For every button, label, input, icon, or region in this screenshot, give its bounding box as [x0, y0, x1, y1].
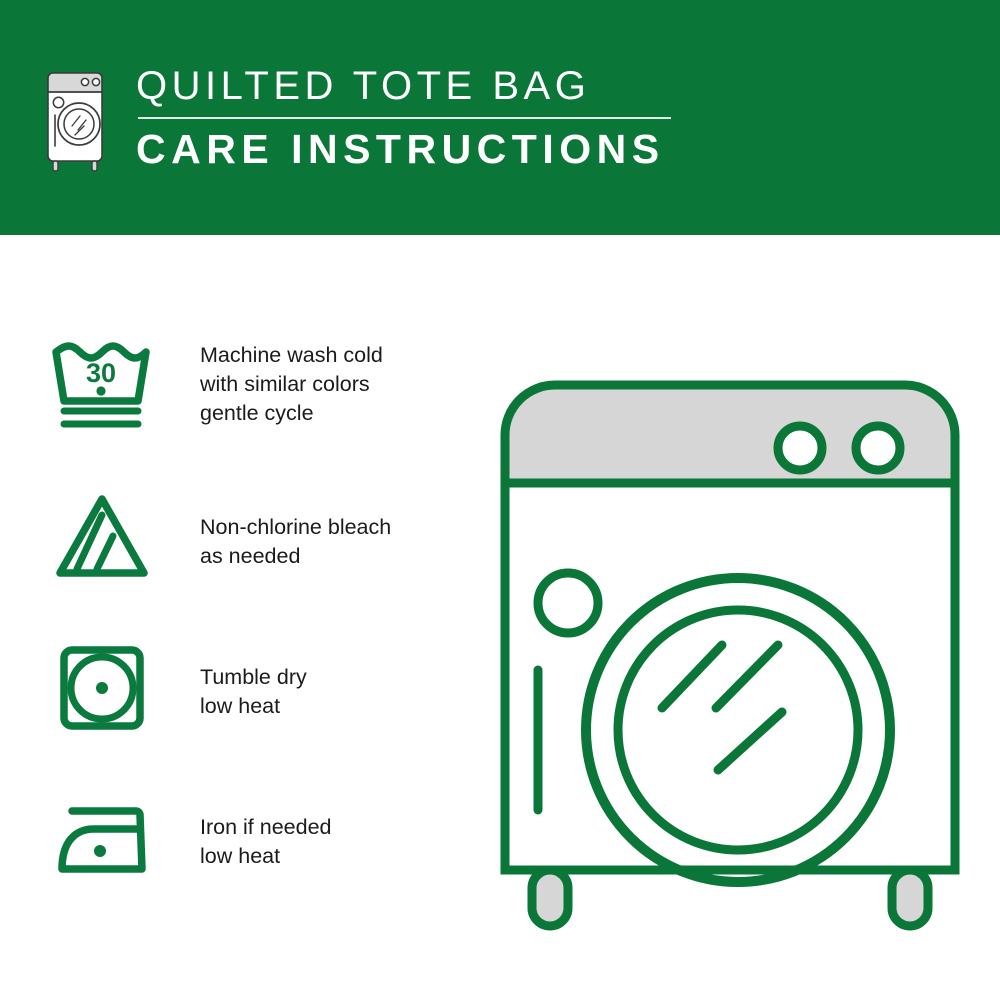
care-item-text: Non-chlorine bleach as needed — [158, 485, 391, 571]
care-item-text: Tumble dry low heat — [158, 635, 307, 721]
list-item: Non-chlorine bleach as needed — [50, 485, 470, 635]
title-divider — [138, 117, 671, 119]
care-item-text: Iron if needed low heat — [158, 785, 332, 871]
leg-right — [892, 870, 928, 926]
care-symbol-slot — [50, 635, 158, 735]
care-item-text: Machine wash cold with similar colors ge… — [158, 335, 383, 428]
page-subtitle: CARE INSTRUCTIONS — [136, 125, 671, 173]
list-item: Tumble dry low heat — [50, 635, 470, 785]
page-title: QUILTED TOTE BAG — [136, 62, 671, 110]
care-item-line: Iron if needed — [200, 813, 332, 842]
main-content: 30 Machine wash cold with similar colors… — [0, 235, 1000, 1000]
care-instructions-list: 30 Machine wash cold with similar colors… — [50, 335, 470, 935]
list-item: Iron if needed low heat — [50, 785, 470, 935]
header-text-block: QUILTED TOTE BAG CARE INSTRUCTIONS — [136, 62, 671, 173]
knob-left[interactable] — [778, 426, 822, 470]
wash-tub-30-gentle-icon: 30 — [50, 339, 154, 435]
header-banner: QUILTED TOTE BAG CARE INSTRUCTIONS — [0, 0, 1000, 235]
wash-temperature-label: 30 — [86, 358, 116, 388]
door-inner-ring — [618, 610, 858, 850]
front-load-washing-machine-illustration — [490, 330, 970, 940]
care-symbol-slot — [50, 485, 158, 585]
header-content: QUILTED TOTE BAG CARE INSTRUCTIONS — [44, 62, 671, 175]
non-chlorine-bleach-triangle-icon — [50, 489, 154, 585]
tumble-dry-low-heat-icon — [50, 639, 154, 735]
washing-machine-icon — [44, 70, 106, 175]
care-item-line: Machine wash cold — [200, 341, 383, 370]
care-item-line: gentle cycle — [200, 399, 383, 428]
indicator-circle — [538, 573, 598, 633]
care-item-line: low heat — [200, 692, 307, 721]
care-symbol-slot: 30 — [50, 335, 158, 435]
care-item-line: with similar colors — [200, 370, 383, 399]
care-item-line: as needed — [200, 542, 391, 571]
knob-right[interactable] — [856, 426, 900, 470]
care-item-line: Tumble dry — [200, 663, 307, 692]
care-item-line: Non-chlorine bleach — [200, 513, 391, 542]
leg-left — [532, 870, 568, 926]
list-item: 30 Machine wash cold with similar colors… — [50, 335, 470, 485]
care-item-line: low heat — [200, 842, 332, 871]
care-symbol-slot — [50, 785, 158, 885]
iron-low-heat-icon — [50, 789, 154, 885]
